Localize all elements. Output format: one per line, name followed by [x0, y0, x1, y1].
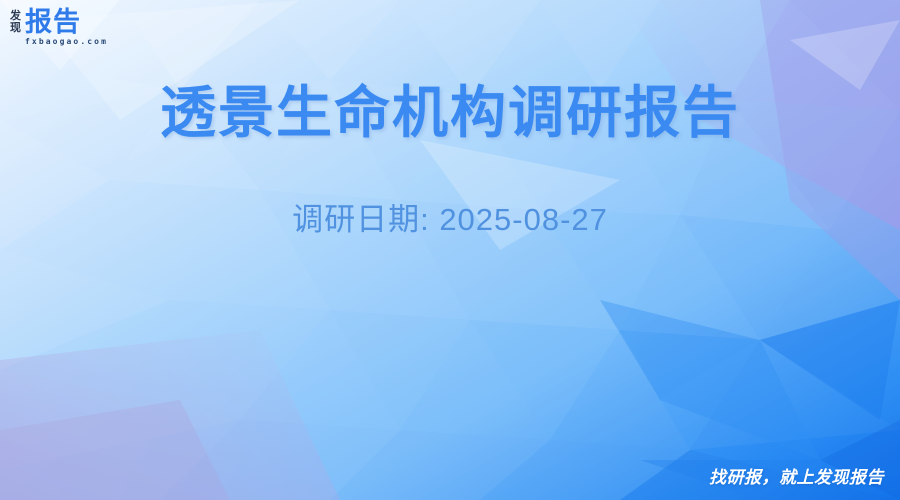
logo-text-group: 报告 fxbaogao.com: [25, 8, 108, 47]
footer-tagline: 找研报，就上发现报告: [709, 468, 884, 488]
cover-title-block: 透景生命机构调研报告 调研日期: 2025-08-27: [0, 78, 900, 240]
report-cover: 发 现 报告 fxbaogao.com 透景生命机构调研报告 调研日期: 202…: [0, 0, 900, 500]
logo-mark-bottom-char: 现: [10, 22, 21, 34]
logo-url: fxbaogao.com: [25, 37, 108, 47]
brand-logo[interactable]: 发 现 报告 fxbaogao.com: [10, 8, 108, 47]
low-poly-background: [0, 0, 900, 500]
survey-date-subtitle: 调研日期: 2025-08-27: [0, 200, 900, 240]
logo-mark-top-char: 发: [10, 10, 21, 22]
page-title: 透景生命机构调研报告: [0, 78, 900, 148]
logo-mark-icon: 发 现: [10, 8, 21, 34]
logo-wordmark: 报告: [25, 8, 108, 36]
